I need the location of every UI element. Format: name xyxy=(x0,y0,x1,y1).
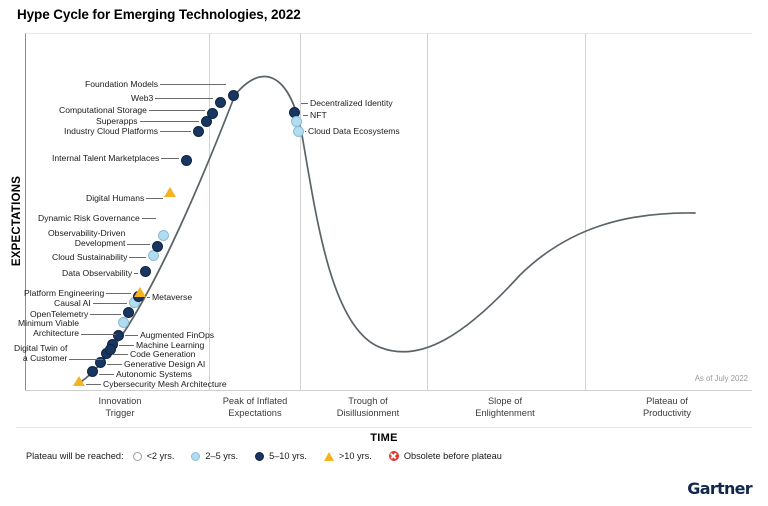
leader-line xyxy=(106,293,131,294)
leader-line xyxy=(81,334,116,335)
data-point-label: Foundation Models xyxy=(85,79,158,89)
legend-label: 2–5 yrs. xyxy=(205,451,238,461)
phase-label-line1: Slope of xyxy=(450,396,560,408)
phase-label-line1: Plateau of xyxy=(612,396,722,408)
leader-line xyxy=(69,359,103,360)
data-point-marker[interactable] xyxy=(207,108,218,119)
leader-line xyxy=(161,158,179,159)
leader-line xyxy=(155,98,213,99)
leader-line xyxy=(305,131,306,132)
data-point-label: Industry Cloud Platforms xyxy=(64,126,158,136)
page-title: Hype Cycle for Emerging Technologies, 20… xyxy=(17,7,301,22)
data-point-label: Metaverse xyxy=(152,292,192,302)
circle-x-red-icon xyxy=(389,451,399,461)
leader-line xyxy=(107,364,122,365)
leader-line xyxy=(113,354,128,355)
data-point-label: Cloud Data Ecosystems xyxy=(308,126,400,136)
leader-line xyxy=(119,345,134,346)
data-point-marker[interactable] xyxy=(293,126,304,137)
data-point-marker[interactable] xyxy=(228,90,239,101)
legend-label: Obsolete before plateau xyxy=(404,451,502,461)
data-point-label: Observability-DrivenDevelopment xyxy=(48,228,125,248)
phase-label-line2: Disillusionment xyxy=(313,408,423,420)
legend-label: <2 yrs. xyxy=(147,451,175,461)
phase-slope-of-enlightenment: Slope of Enlightenment xyxy=(450,396,560,419)
leader-line xyxy=(86,384,101,385)
data-point-marker[interactable] xyxy=(140,266,151,277)
leader-line xyxy=(160,131,191,132)
leader-line xyxy=(134,273,138,274)
phase-label-line1: Innovation xyxy=(70,396,170,408)
data-point-label: Platform Engineering xyxy=(24,288,104,298)
data-point-marker[interactable] xyxy=(215,97,226,108)
data-point-label: Generative Design AI xyxy=(124,359,205,369)
leader-line xyxy=(127,244,150,245)
legend-item-gt10yrs[interactable]: >10 yrs. xyxy=(324,451,372,461)
data-point-label: NFT xyxy=(310,110,327,120)
legend-item-2to5yrs[interactable]: 2–5 yrs. xyxy=(191,451,238,461)
phase-label-line2: Expectations xyxy=(205,408,305,420)
phase-innovation-trigger: Innovation Trigger xyxy=(70,396,170,419)
gartner-logo: Gartner xyxy=(687,479,752,498)
data-point-marker[interactable] xyxy=(105,344,116,355)
legend-title: Plateau will be reached: xyxy=(26,451,124,461)
triangle-orange-icon[interactable] xyxy=(164,187,176,197)
data-point-label: Internal Talent Marketplaces xyxy=(52,153,159,163)
data-point-label: Causal AI xyxy=(54,298,91,308)
phase-peak-of-inflated-expectations: Peak of Inflated Expectations xyxy=(205,396,305,419)
leader-line xyxy=(125,335,138,336)
data-point-marker[interactable] xyxy=(118,317,129,328)
leader-line xyxy=(90,314,121,315)
gridline-2 xyxy=(300,33,301,390)
phase-label-line2: Enlightenment xyxy=(450,408,560,420)
triangle-orange-icon[interactable] xyxy=(73,376,85,386)
data-point-marker[interactable] xyxy=(181,155,192,166)
x-axis-label: TIME xyxy=(0,432,768,444)
x-axis-line xyxy=(25,390,752,391)
legend-item-obsolete[interactable]: Obsolete before plateau xyxy=(389,451,502,461)
leader-line xyxy=(146,198,163,199)
phase-plateau-of-productivity: Plateau of Productivity xyxy=(612,396,722,419)
data-point-label: Data Observability xyxy=(62,268,132,278)
leader-line xyxy=(301,103,308,104)
data-point-label: Computational Storage xyxy=(59,105,147,115)
y-axis-label: EXPECTATIONS xyxy=(11,141,23,301)
data-point-marker[interactable] xyxy=(158,230,169,241)
circle-navy-icon xyxy=(255,452,264,461)
data-point-label: Superapps xyxy=(96,116,138,126)
leader-line xyxy=(142,218,156,219)
triangle-orange-icon[interactable] xyxy=(134,287,146,297)
data-point-marker[interactable] xyxy=(87,366,98,377)
data-point-marker[interactable] xyxy=(152,241,163,252)
data-point-marker[interactable] xyxy=(193,126,204,137)
leader-line xyxy=(129,257,146,258)
legend-label: >10 yrs. xyxy=(339,451,372,461)
phase-trough-of-disillusionment: Trough of Disillusionment xyxy=(313,396,423,419)
data-point-label: Autonomic Systems xyxy=(116,369,192,379)
legend: Plateau will be reached: <2 yrs. 2–5 yrs… xyxy=(26,451,519,461)
phase-label-line1: Peak of Inflated xyxy=(205,396,305,408)
as-of-note: As of July 2022 xyxy=(695,374,748,383)
leader-line xyxy=(140,121,199,122)
data-point-label: Cybersecurity Mesh Architecture xyxy=(103,379,227,389)
data-point-label: Dynamic Risk Governance xyxy=(38,213,140,223)
data-point-label: Minimum ViableArchitecture xyxy=(18,318,79,338)
data-point-label: Digital Humans xyxy=(86,193,144,203)
circle-lightblue-icon xyxy=(191,452,200,461)
phase-band-divider xyxy=(17,427,752,428)
data-point-label: OpenTelemetry xyxy=(30,309,88,319)
data-point-marker[interactable] xyxy=(291,116,302,127)
data-point-label: Web3 xyxy=(131,93,153,103)
data-point-marker[interactable] xyxy=(123,307,134,318)
data-point-label: Digital Twin ofa Customer xyxy=(14,343,67,363)
circle-white-icon xyxy=(133,452,142,461)
data-point-label: Augmented FinOps xyxy=(140,330,214,340)
gridline-3 xyxy=(427,33,428,390)
gridline-4 xyxy=(585,33,586,390)
leader-line xyxy=(303,115,308,116)
leader-line xyxy=(149,110,205,111)
legend-item-5to10yrs[interactable]: 5–10 yrs. xyxy=(255,451,307,461)
leader-line xyxy=(160,84,226,85)
legend-item-lt2yrs[interactable]: <2 yrs. xyxy=(133,451,175,461)
data-point-label: Machine Learning xyxy=(136,340,204,350)
data-point-label: Decentralized Identity xyxy=(310,98,393,108)
data-point-marker[interactable] xyxy=(113,330,124,341)
phase-label-line2: Productivity xyxy=(612,408,722,420)
leader-line xyxy=(99,374,114,375)
data-point-label: Cloud Sustainability xyxy=(52,252,127,262)
leader-line xyxy=(93,303,127,304)
triangle-orange-icon xyxy=(324,452,334,461)
phase-label-line1: Trough of xyxy=(313,396,423,408)
legend-label: 5–10 yrs. xyxy=(269,451,307,461)
phase-label-line2: Trigger xyxy=(70,408,170,420)
leader-line xyxy=(147,297,150,298)
data-point-label: Code Generation xyxy=(130,349,195,359)
